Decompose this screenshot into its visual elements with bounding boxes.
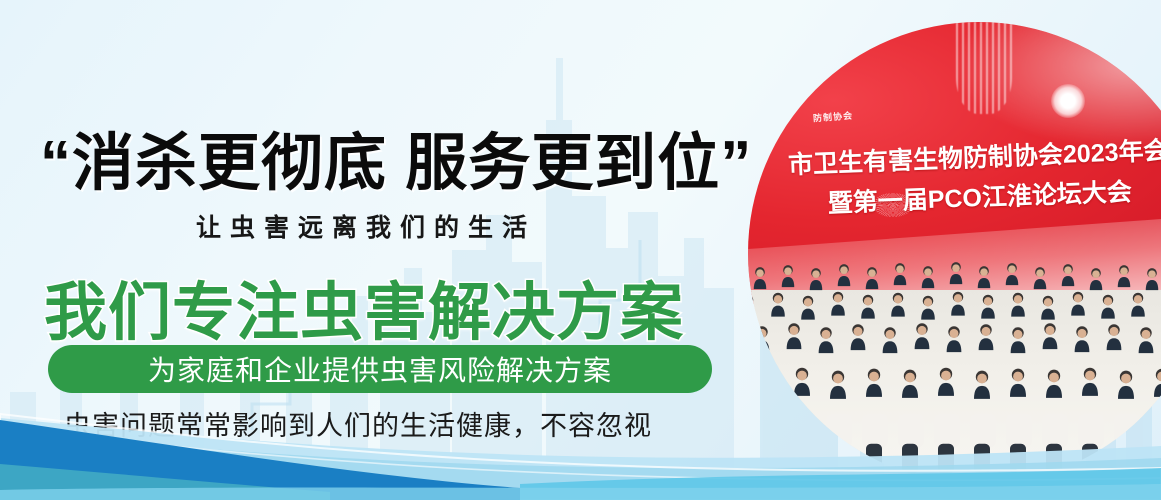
conference-photo-circle: 防制协会 市卫生有害生物防制协会2023年会 暨第一届PCO江淮论坛大会: [748, 22, 1161, 484]
chandelier-icon: [956, 22, 1012, 114]
green-heading: 我们专注虫害解决方案: [44, 262, 684, 353]
subtitle: 让虫害远离我们的生活: [196, 208, 536, 244]
pest-control-hero-banner: 防制协会 市卫生有害生物防制协会2023年会 暨第一届PCO江淮论坛大会: [0, 0, 1161, 500]
association-logo-text: 防制协会: [812, 108, 853, 124]
tagline: 虫害问题常常影响到人们的生活健康，不容忽视: [64, 404, 652, 443]
spotlight-icon: [1051, 84, 1085, 118]
attendees-group-photo: [748, 262, 1161, 484]
page-title: “消杀更彻底 服务更到位”: [40, 112, 752, 202]
solution-pill-banner: 为家庭和企业提供虫害风险解决方案: [48, 345, 712, 393]
solution-pill-label: 为家庭和企业提供虫害风险解决方案: [148, 349, 612, 389]
